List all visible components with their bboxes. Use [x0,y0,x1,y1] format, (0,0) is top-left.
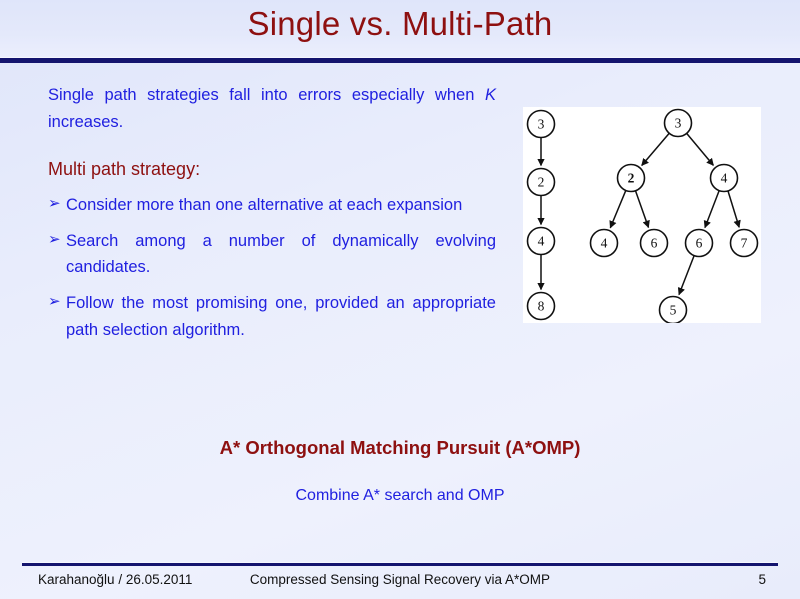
tree-node: 6 [686,230,713,257]
tree-node: 3 [528,111,555,138]
tree-edge [610,190,625,227]
body-content: Single path strategies fall into errors … [48,82,496,352]
intro-text-before: Single path strategies fall into errors … [48,86,485,104]
tree-node: 2 [528,169,555,196]
intro-text-after: increases. [48,113,123,131]
tree-edge [728,191,739,227]
arrow-bullet-icon: ➢ [48,228,61,252]
arrow-bullet-icon: ➢ [48,290,61,314]
tree-node-label: 4 [601,236,608,251]
footer-title: Compressed Sensing Signal Recovery via A… [22,572,778,587]
diagram-svg: 324832446675 [523,107,761,323]
tree-node-label: 6 [696,236,703,251]
tree-edge [679,256,694,295]
tree-node: 6 [641,230,668,257]
title-divider [0,57,800,63]
section-heading: Multi path strategy: [48,158,496,181]
tree-node: 4 [711,165,738,192]
tree-node: 7 [731,230,758,257]
list-item: ➢ Search among a number of dynamically e… [48,228,496,281]
footer-divider [22,562,778,566]
tree-node-label: 2 [628,171,635,186]
tree-node: 8 [528,293,555,320]
diagram-edges [541,133,739,294]
tree-node: 3 [665,110,692,137]
tree-node-label: 8 [538,299,545,314]
tree-node-label: 4 [721,171,728,186]
tree-node-label: 3 [538,117,545,132]
tree-node-label: 4 [538,234,545,249]
tree-edge [705,191,719,228]
tree-node-label: 5 [670,303,677,318]
tree-node: 4 [591,230,618,257]
tree-node: 4 [528,228,555,255]
bullet-list: ➢ Consider more than one alternative at … [48,192,496,344]
tree-node-label: 2 [538,175,545,190]
footer-page-number: 5 [758,572,766,587]
diagram-nodes: 324832446675 [528,110,758,324]
intro-variable-k: K [485,86,496,104]
callout-primary: A* Orthogonal Matching Pursuit (A*OMP) [0,437,800,459]
list-item-label: Follow the most promising one, provided … [66,294,496,339]
tree-edge [636,191,649,228]
list-item: ➢ Consider more than one alternative at … [48,192,496,219]
tree-node: 2 [618,165,645,192]
tree-edge [687,133,714,165]
list-item-label: Consider more than one alternative at ea… [66,196,462,214]
tree-node-label: 6 [651,236,658,251]
list-item-label: Search among a number of dynamically evo… [66,232,496,277]
tree-node: 5 [660,297,687,324]
tree-node-label: 3 [675,116,682,131]
tree-edge [642,133,670,165]
page-title: Single vs. Multi-Path [0,5,800,43]
search-tree-diagram: 324832446675 [523,107,761,323]
callout-secondary: Combine A* search and OMP [0,487,800,505]
list-item: ➢ Follow the most promising one, provide… [48,290,496,343]
arrow-bullet-icon: ➢ [48,192,61,216]
intro-paragraph: Single path strategies fall into errors … [48,82,496,136]
footer: Karahanoğlu / 26.05.2011 Compressed Sens… [22,570,778,594]
slide: Single vs. Multi-Path Single path strate… [0,0,800,599]
tree-node-label: 7 [741,236,748,251]
